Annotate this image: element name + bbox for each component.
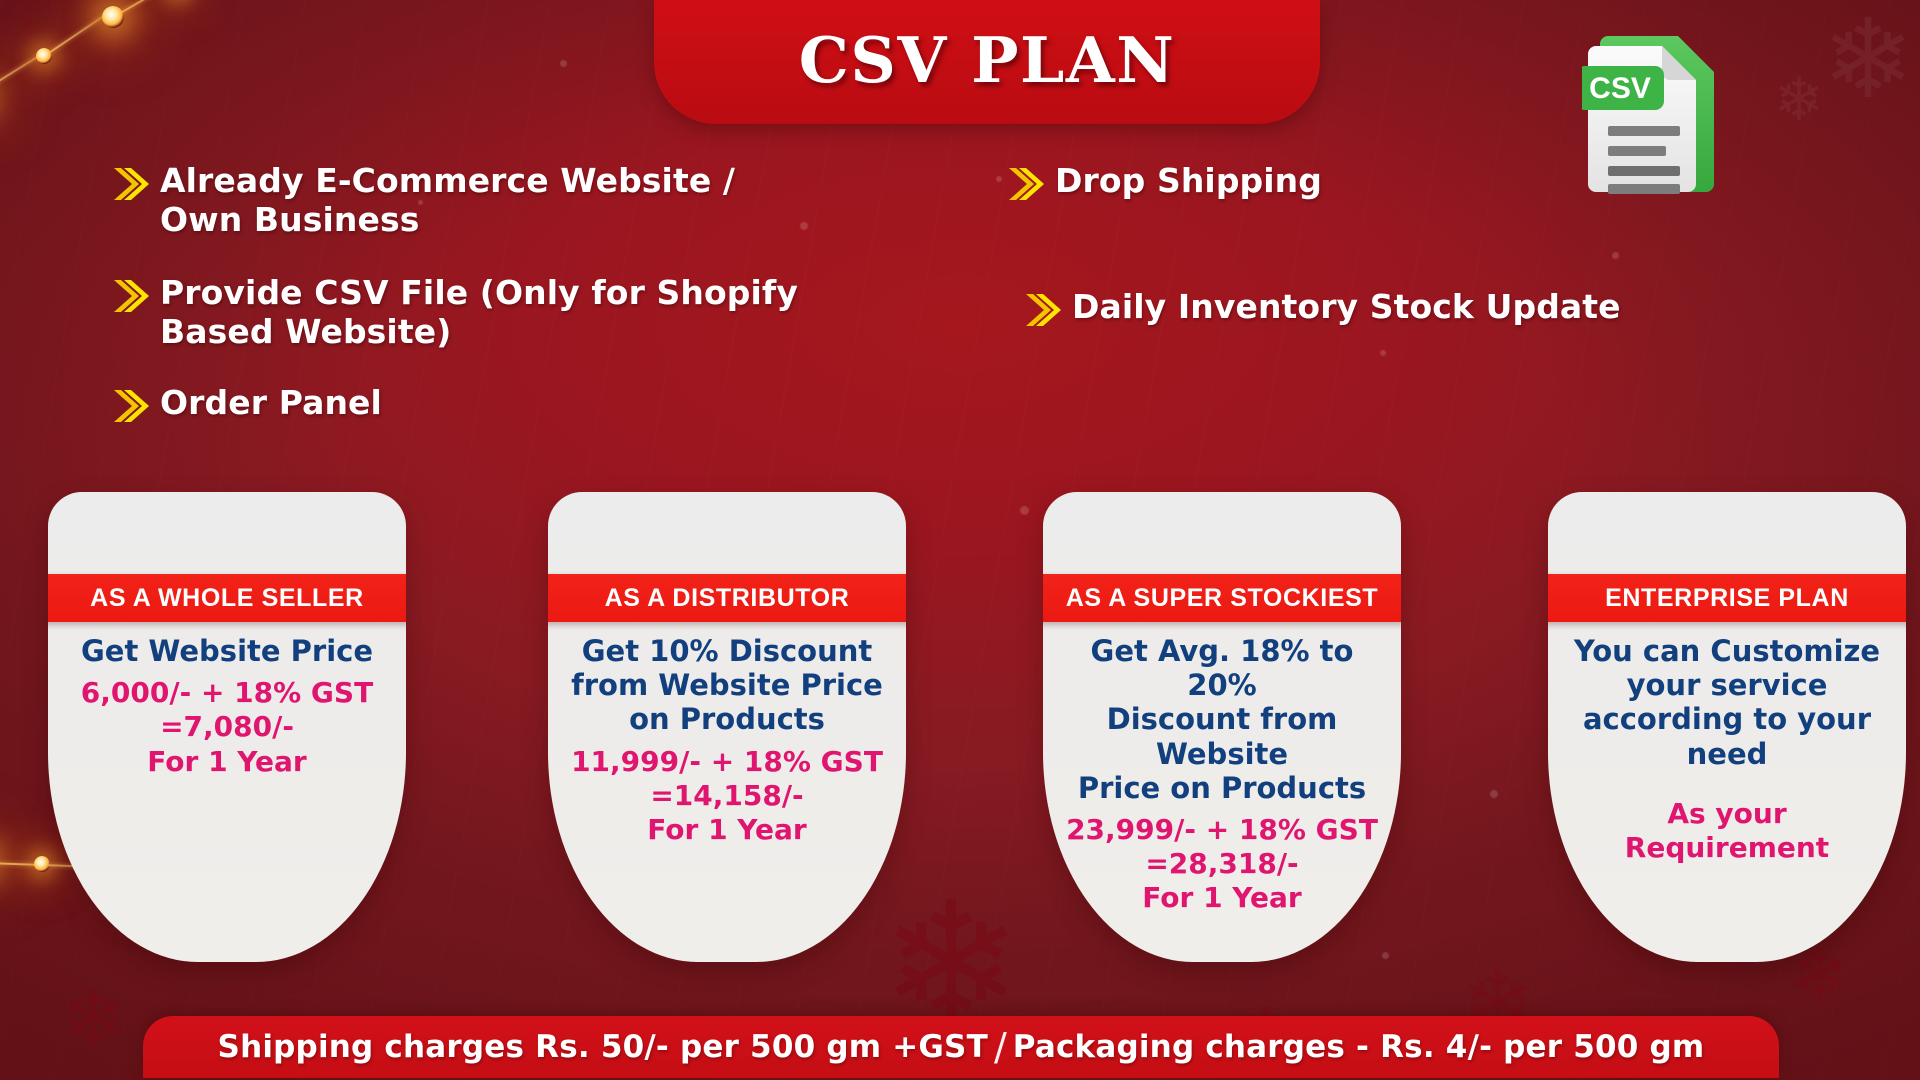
plan-heading: Get Website Price <box>64 634 390 668</box>
footer-packaging-text: Packaging charges - Rs. 4/- per 500 gm <box>1013 1029 1705 1065</box>
pricing-card-content: Get Website Price 6,000/- + 18% GST =7,0… <box>48 634 406 779</box>
feature-item: Provide CSV File (Only for Shopify Based… <box>110 274 870 352</box>
feature-label: Daily Inventory Stock Update <box>1072 288 1621 327</box>
feature-label: Provide CSV File (Only for Shopify Based… <box>160 274 798 352</box>
pricing-card-body: AS A DISTRIBUTOR Get 10% Discount from W… <box>548 492 906 962</box>
chevron-double-right-icon <box>110 277 150 319</box>
plan-heading: Get 10% Discount from Website Price on P… <box>564 634 890 737</box>
feature-item: Already E-Commerce Website / Own Busines… <box>110 162 830 240</box>
plan-price: As your Requirement <box>1564 797 1890 865</box>
pricing-card[interactable]: AS A WHOLE SELLER Get Website Price 6,00… <box>48 492 406 962</box>
csv-badge-label: CSV <box>1589 72 1651 105</box>
pricing-card-content: Get 10% Discount from Website Price on P… <box>548 634 906 847</box>
pricing-card[interactable]: AS A DISTRIBUTOR Get 10% Discount from W… <box>548 492 906 962</box>
pricing-card-body: ENTERPRISE PLAN You can Customize your s… <box>1548 492 1906 962</box>
feature-item: Daily Inventory Stock Update <box>1022 288 1702 333</box>
pricing-card-ribbon: AS A DISTRIBUTOR <box>548 574 906 622</box>
pricing-card[interactable]: AS A SUPER STOCKIEST Get Avg. 18% to 20%… <box>1043 492 1401 962</box>
bokeh-dot <box>560 60 567 67</box>
chevron-double-right-icon <box>110 165 150 207</box>
pricing-card-ribbon: ENTERPRISE PLAN <box>1548 574 1906 622</box>
pricing-card-content: You can Customize your service according… <box>1548 634 1906 865</box>
plan-heading: Get Avg. 18% to 20% Discount from Websit… <box>1059 634 1385 805</box>
chevron-double-right-icon <box>110 387 150 429</box>
plan-name: AS A DISTRIBUTOR <box>605 584 850 613</box>
features-list: Already E-Commerce Website / Own Busines… <box>0 148 1920 438</box>
page-title-banner: CSV PLAN <box>654 0 1320 124</box>
footer-banner: Shipping charges Rs. 50/- per 500 gm +GS… <box>143 1016 1779 1078</box>
feature-item: Order Panel <box>110 384 510 429</box>
feature-item: Drop Shipping <box>1005 162 1435 207</box>
plan-price: 6,000/- + 18% GST =7,080/- For 1 Year <box>64 676 390 778</box>
snowflake-icon: ❄ <box>1822 4 1914 114</box>
plan-heading: You can Customize your service according… <box>1564 634 1890 771</box>
plan-price: 11,999/- + 18% GST =14,158/- For 1 Year <box>564 745 890 847</box>
pricing-card-ribbon: AS A SUPER STOCKIEST <box>1043 574 1401 622</box>
snowflake-icon: ❄ <box>60 980 127 1060</box>
pricing-card[interactable]: ENTERPRISE PLAN You can Customize your s… <box>1548 492 1906 962</box>
plan-name: ENTERPRISE PLAN <box>1605 584 1849 613</box>
pricing-card-content: Get Avg. 18% to 20% Discount from Websit… <box>1043 634 1401 916</box>
chevron-double-right-icon <box>1022 291 1062 333</box>
plan-name: AS A SUPER STOCKIEST <box>1066 584 1379 613</box>
pricing-cards: AS A WHOLE SELLER Get Website Price 6,00… <box>0 492 1920 992</box>
pricing-card-body: AS A WHOLE SELLER Get Website Price 6,00… <box>48 492 406 962</box>
plan-price: 23,999/- + 18% GST =28,318/- For 1 Year <box>1059 813 1385 915</box>
page-title: CSV PLAN <box>799 23 1176 101</box>
pricing-card-body: AS A SUPER STOCKIEST Get Avg. 18% to 20%… <box>1043 492 1401 962</box>
footer-shipping-text: Shipping charges Rs. 50/- per 500 gm +GS… <box>218 1029 988 1065</box>
pricing-card-ribbon: AS A WHOLE SELLER <box>48 574 406 622</box>
feature-label: Order Panel <box>160 384 382 423</box>
plan-name: AS A WHOLE SELLER <box>90 584 364 613</box>
feature-label: Already E-Commerce Website / Own Busines… <box>160 162 735 240</box>
snowflake-icon: ❄ <box>1774 70 1824 130</box>
feature-label: Drop Shipping <box>1055 162 1322 201</box>
footer-separator: / <box>994 1025 1007 1069</box>
chevron-double-right-icon <box>1005 165 1045 207</box>
